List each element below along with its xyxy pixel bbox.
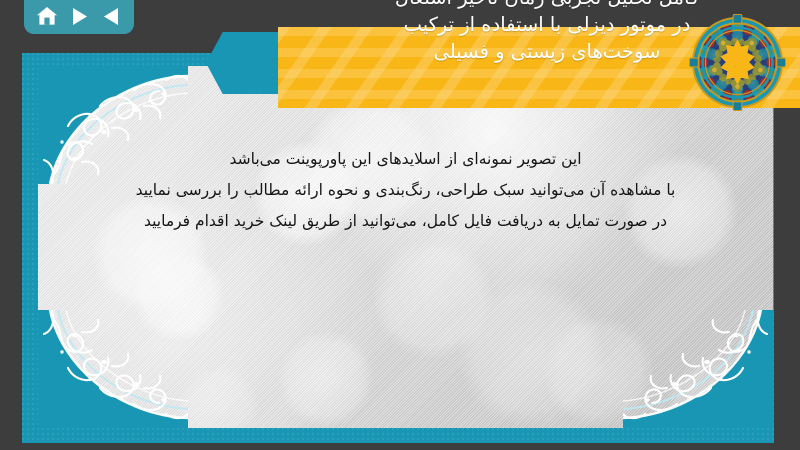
home-icon [36,6,58,26]
arabesque-corner-ornament [38,310,188,428]
bokeh-circle [93,196,208,311]
bokeh-circle [668,356,768,428]
arabesque-corner-ornament [38,66,188,184]
bokeh-circle [278,331,373,426]
bokeh-circle [543,316,653,426]
bokeh-circle [373,238,493,358]
bokeh-circle [623,154,738,269]
back-triangle-icon [103,7,120,26]
bokeh-circle [133,251,223,341]
home-button[interactable] [34,3,60,29]
bokeh-circle [303,98,433,228]
arabesque-corner-ornament [623,310,773,428]
bokeh-circle [178,366,258,428]
navigation-bar [24,0,134,34]
forward-triangle-icon [71,7,88,26]
slide-body-text: این تصویر نمونه‌ای از اسلایدهای این پاور… [38,144,773,237]
back-button[interactable] [98,3,124,29]
forward-button[interactable] [66,3,92,29]
bokeh-circle [253,141,358,246]
slide-viewer: این تصویر نمونه‌ای از اسلایدهای این پاور… [0,0,800,450]
persian-medallion-ornament [689,14,786,111]
bokeh-circle [458,281,603,426]
slide-content-panel: این تصویر نمونه‌ای از اسلایدهای این پاور… [38,66,773,428]
